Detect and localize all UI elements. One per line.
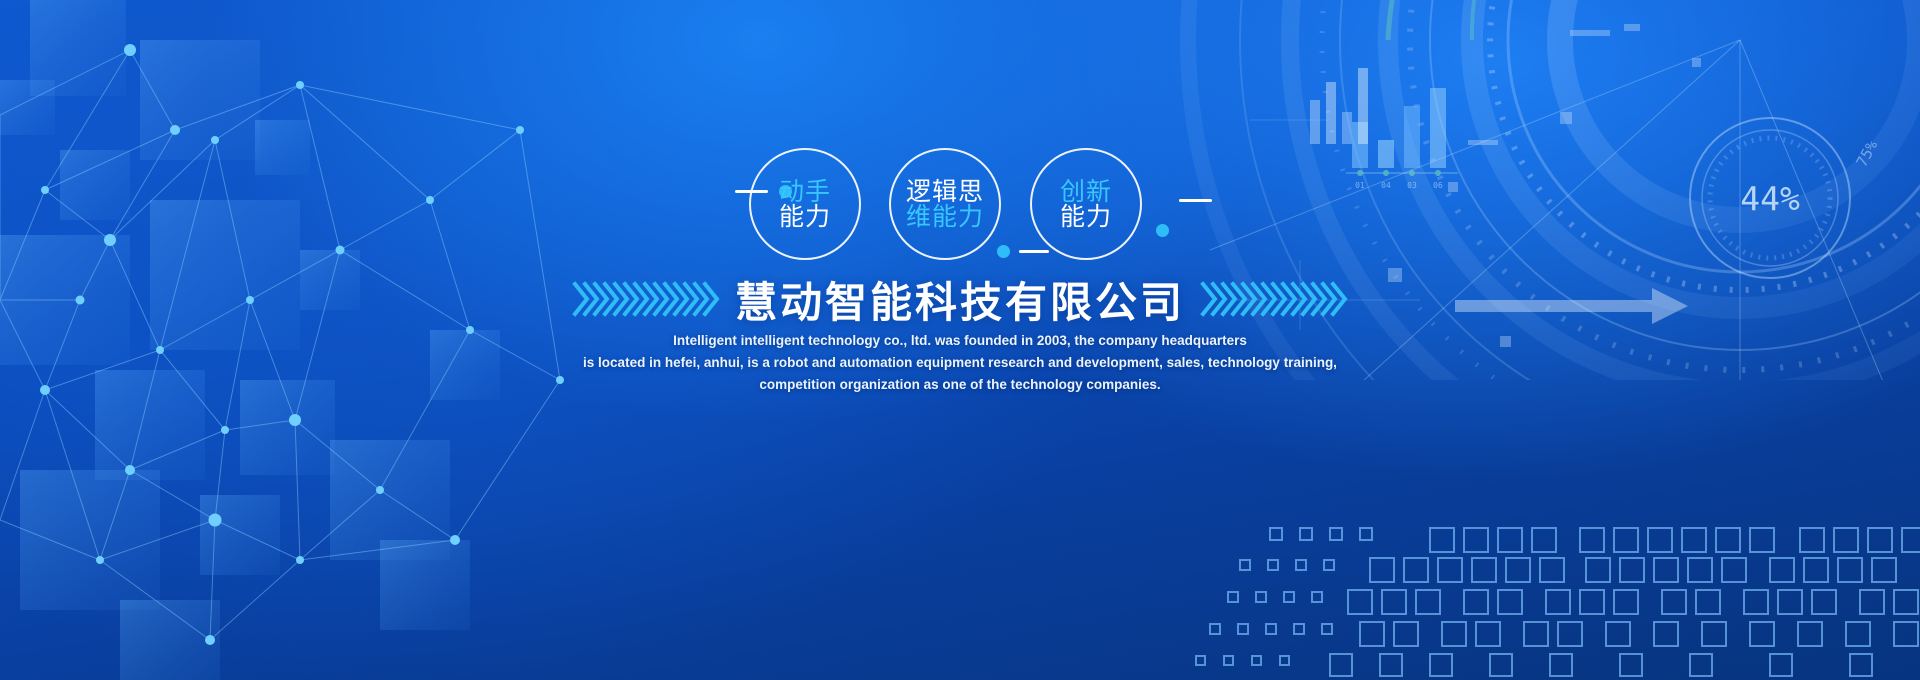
- hero-banner: 44% 75% 0104 0306: [0, 0, 1920, 680]
- gauge-75-label: 75%: [1853, 138, 1882, 170]
- svg-text:06: 06: [1433, 181, 1443, 190]
- svg-text:01: 01: [1355, 181, 1365, 190]
- bottom-dash-decoration: [1019, 250, 1049, 253]
- mini-bar-chart: 0104 0306: [1346, 88, 1458, 190]
- title-row: 慧动智能科技有限公司: [0, 272, 1920, 326]
- capability-circle-2[interactable]: 逻辑思 维能力: [889, 148, 1001, 260]
- translucent-squares: [0, 0, 500, 680]
- capability-circle-group: 动手 能力 逻辑思 维能力 创新 能力: [735, 148, 1215, 270]
- capability-circle-2-line2: 维能力: [906, 204, 984, 230]
- right-dot-decoration: [1156, 224, 1169, 237]
- page-title: 慧动智能科技有限公司: [735, 269, 1185, 330]
- description-line-1: Intelligent intelligent technology co., …: [580, 330, 1340, 352]
- gauge-44: 44%: [1690, 118, 1850, 278]
- svg-text:03: 03: [1407, 181, 1417, 190]
- capability-circle-3-line2: 能力: [1060, 204, 1112, 230]
- capability-circle-1-line2: 能力: [779, 204, 831, 230]
- capability-circle-1[interactable]: 动手 能力: [749, 148, 861, 260]
- description-line-2: is located in hefei, anhui, is a robot a…: [580, 352, 1340, 374]
- capability-circle-3-line1: 创新: [1060, 179, 1112, 205]
- capability-circle-1-line1: 动手: [779, 179, 831, 205]
- network-lines: [0, 50, 560, 640]
- gauge-44-label: 44%: [1740, 179, 1800, 218]
- company-description: Intelligent intelligent technology co., …: [580, 330, 1340, 396]
- bottom-dot-decoration: [997, 245, 1010, 258]
- right-dash-decoration: [1179, 199, 1212, 202]
- mini-bar-chart-secondary: [1310, 68, 1368, 144]
- svg-text:04: 04: [1381, 181, 1391, 190]
- capability-circle-2-line1: 逻辑思: [906, 179, 984, 205]
- chevron-right-decoration: [1199, 278, 1349, 320]
- network-nodes: [40, 44, 564, 645]
- capability-circle-3[interactable]: 创新 能力: [1030, 148, 1142, 260]
- chevron-left-decoration: [571, 278, 721, 320]
- description-line-3: competition organization as one of the t…: [580, 374, 1340, 396]
